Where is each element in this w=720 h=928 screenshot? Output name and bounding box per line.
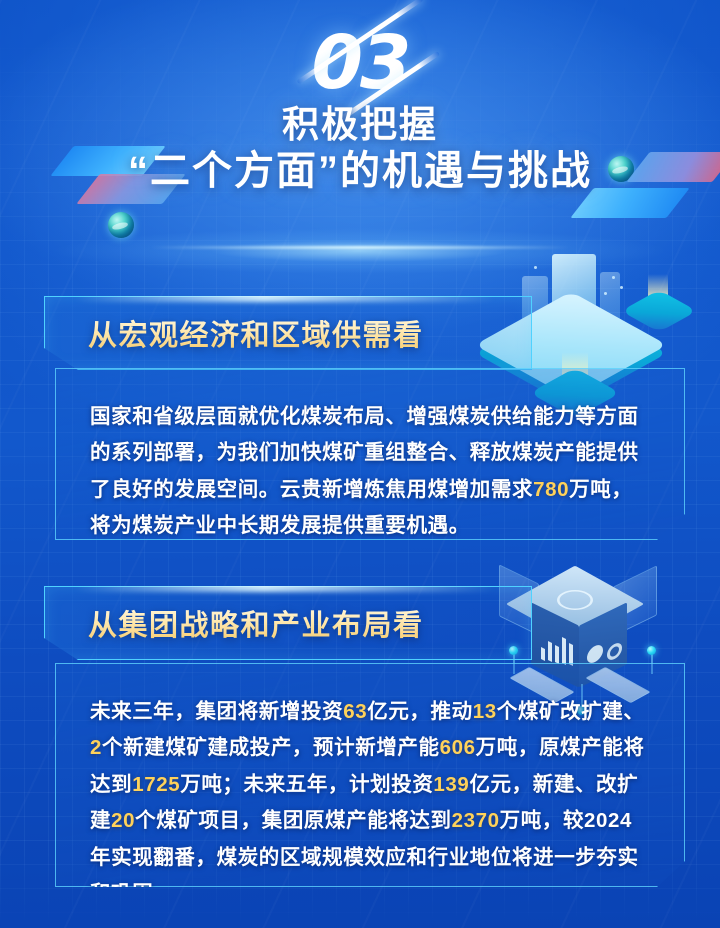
section-1-panel: 国家和省级层面就优化煤炭布局、增强煤炭供给能力等方面的系列部署，为我们加快煤矿重… <box>55 368 685 540</box>
spark-2 <box>612 276 615 279</box>
section-2-paragraph: 未来三年，集团将新增投资63亿元，推动13个煤矿改扩建、2个新建煤矿建成投产，预… <box>56 664 684 928</box>
decor-globe-left <box>108 212 134 238</box>
highlighted-figure: 20 <box>111 809 135 832</box>
title-line-2: “二个方面”的机遇与挑战 <box>0 149 720 194</box>
highlighted-figure: 780 <box>533 478 569 501</box>
heading-bar-glow-1 <box>75 292 495 302</box>
cube-chart-bar-2 <box>548 641 552 662</box>
cube-chart-bar-3 <box>555 645 559 664</box>
node-right-icon <box>647 646 656 655</box>
section-1-paragraph: 国家和省级层面就优化煤炭布局、增强煤炭供给能力等方面的系列部署，为我们加快煤矿重… <box>56 369 684 571</box>
highlighted-figure: 1725 <box>132 773 180 796</box>
cube-chart-bar-4 <box>562 637 566 665</box>
paragraph-1-text: 国家和省级层面就优化煤炭布局、增强煤炭供给能力等方面的系列部署，为我们加快煤矿重… <box>90 405 639 537</box>
paragraph-run: 个新建煤矿建成投产，预计新增产能 <box>102 736 440 759</box>
spark-4 <box>620 286 623 289</box>
highlighted-figure: 2 <box>90 736 102 759</box>
cube-chart-bar-1 <box>541 647 545 661</box>
poster-title: 积极把握 “二个方面”的机遇与挑战 <box>0 104 720 194</box>
section-1-heading-label: 从宏观经济和区域供需看 <box>88 312 424 354</box>
paragraph-run: 亿元，推动 <box>367 700 473 723</box>
paragraph-run: 万吨；未来五年，计划投资 <box>180 773 433 796</box>
heading-bar-glow-2 <box>75 582 495 592</box>
poster-header: 03 积极把握 “二个方面”的机遇与挑战 <box>0 0 720 260</box>
paragraph-run: 未来三年，集团将新增投资 <box>90 700 343 723</box>
title-line-1: 积极把握 <box>0 104 720 145</box>
paragraph-run: 个煤矿项目，集团原煤产能将达到 <box>135 809 452 832</box>
highlighted-figure: 2370 <box>452 809 500 832</box>
cube-chart-bar-5 <box>569 643 573 666</box>
highlighted-figure: 139 <box>433 773 469 796</box>
paragraph-run: 个煤矿改扩建、 <box>497 700 645 723</box>
spark-1 <box>534 266 537 269</box>
highlighted-figure: 606 <box>440 736 476 759</box>
spark-3 <box>604 292 607 295</box>
section-2-panel: 未来三年，集团将新增投资63亿元，推动13个煤矿改扩建、2个新建煤矿建成投产，预… <box>55 663 685 887</box>
section-2-heading-label: 从集团战略和产业布局看 <box>88 602 424 644</box>
highlighted-figure: 13 <box>473 700 497 723</box>
highlighted-figure: 63 <box>343 700 367 723</box>
paragraph-2-text: 未来三年，集团将新增投资63亿元，推动13个煤矿改扩建、2个新建煤矿建成投产，预… <box>90 700 644 905</box>
poster-root: 03 积极把握 “二个方面”的机遇与挑战 从宏观经 <box>0 0 720 928</box>
